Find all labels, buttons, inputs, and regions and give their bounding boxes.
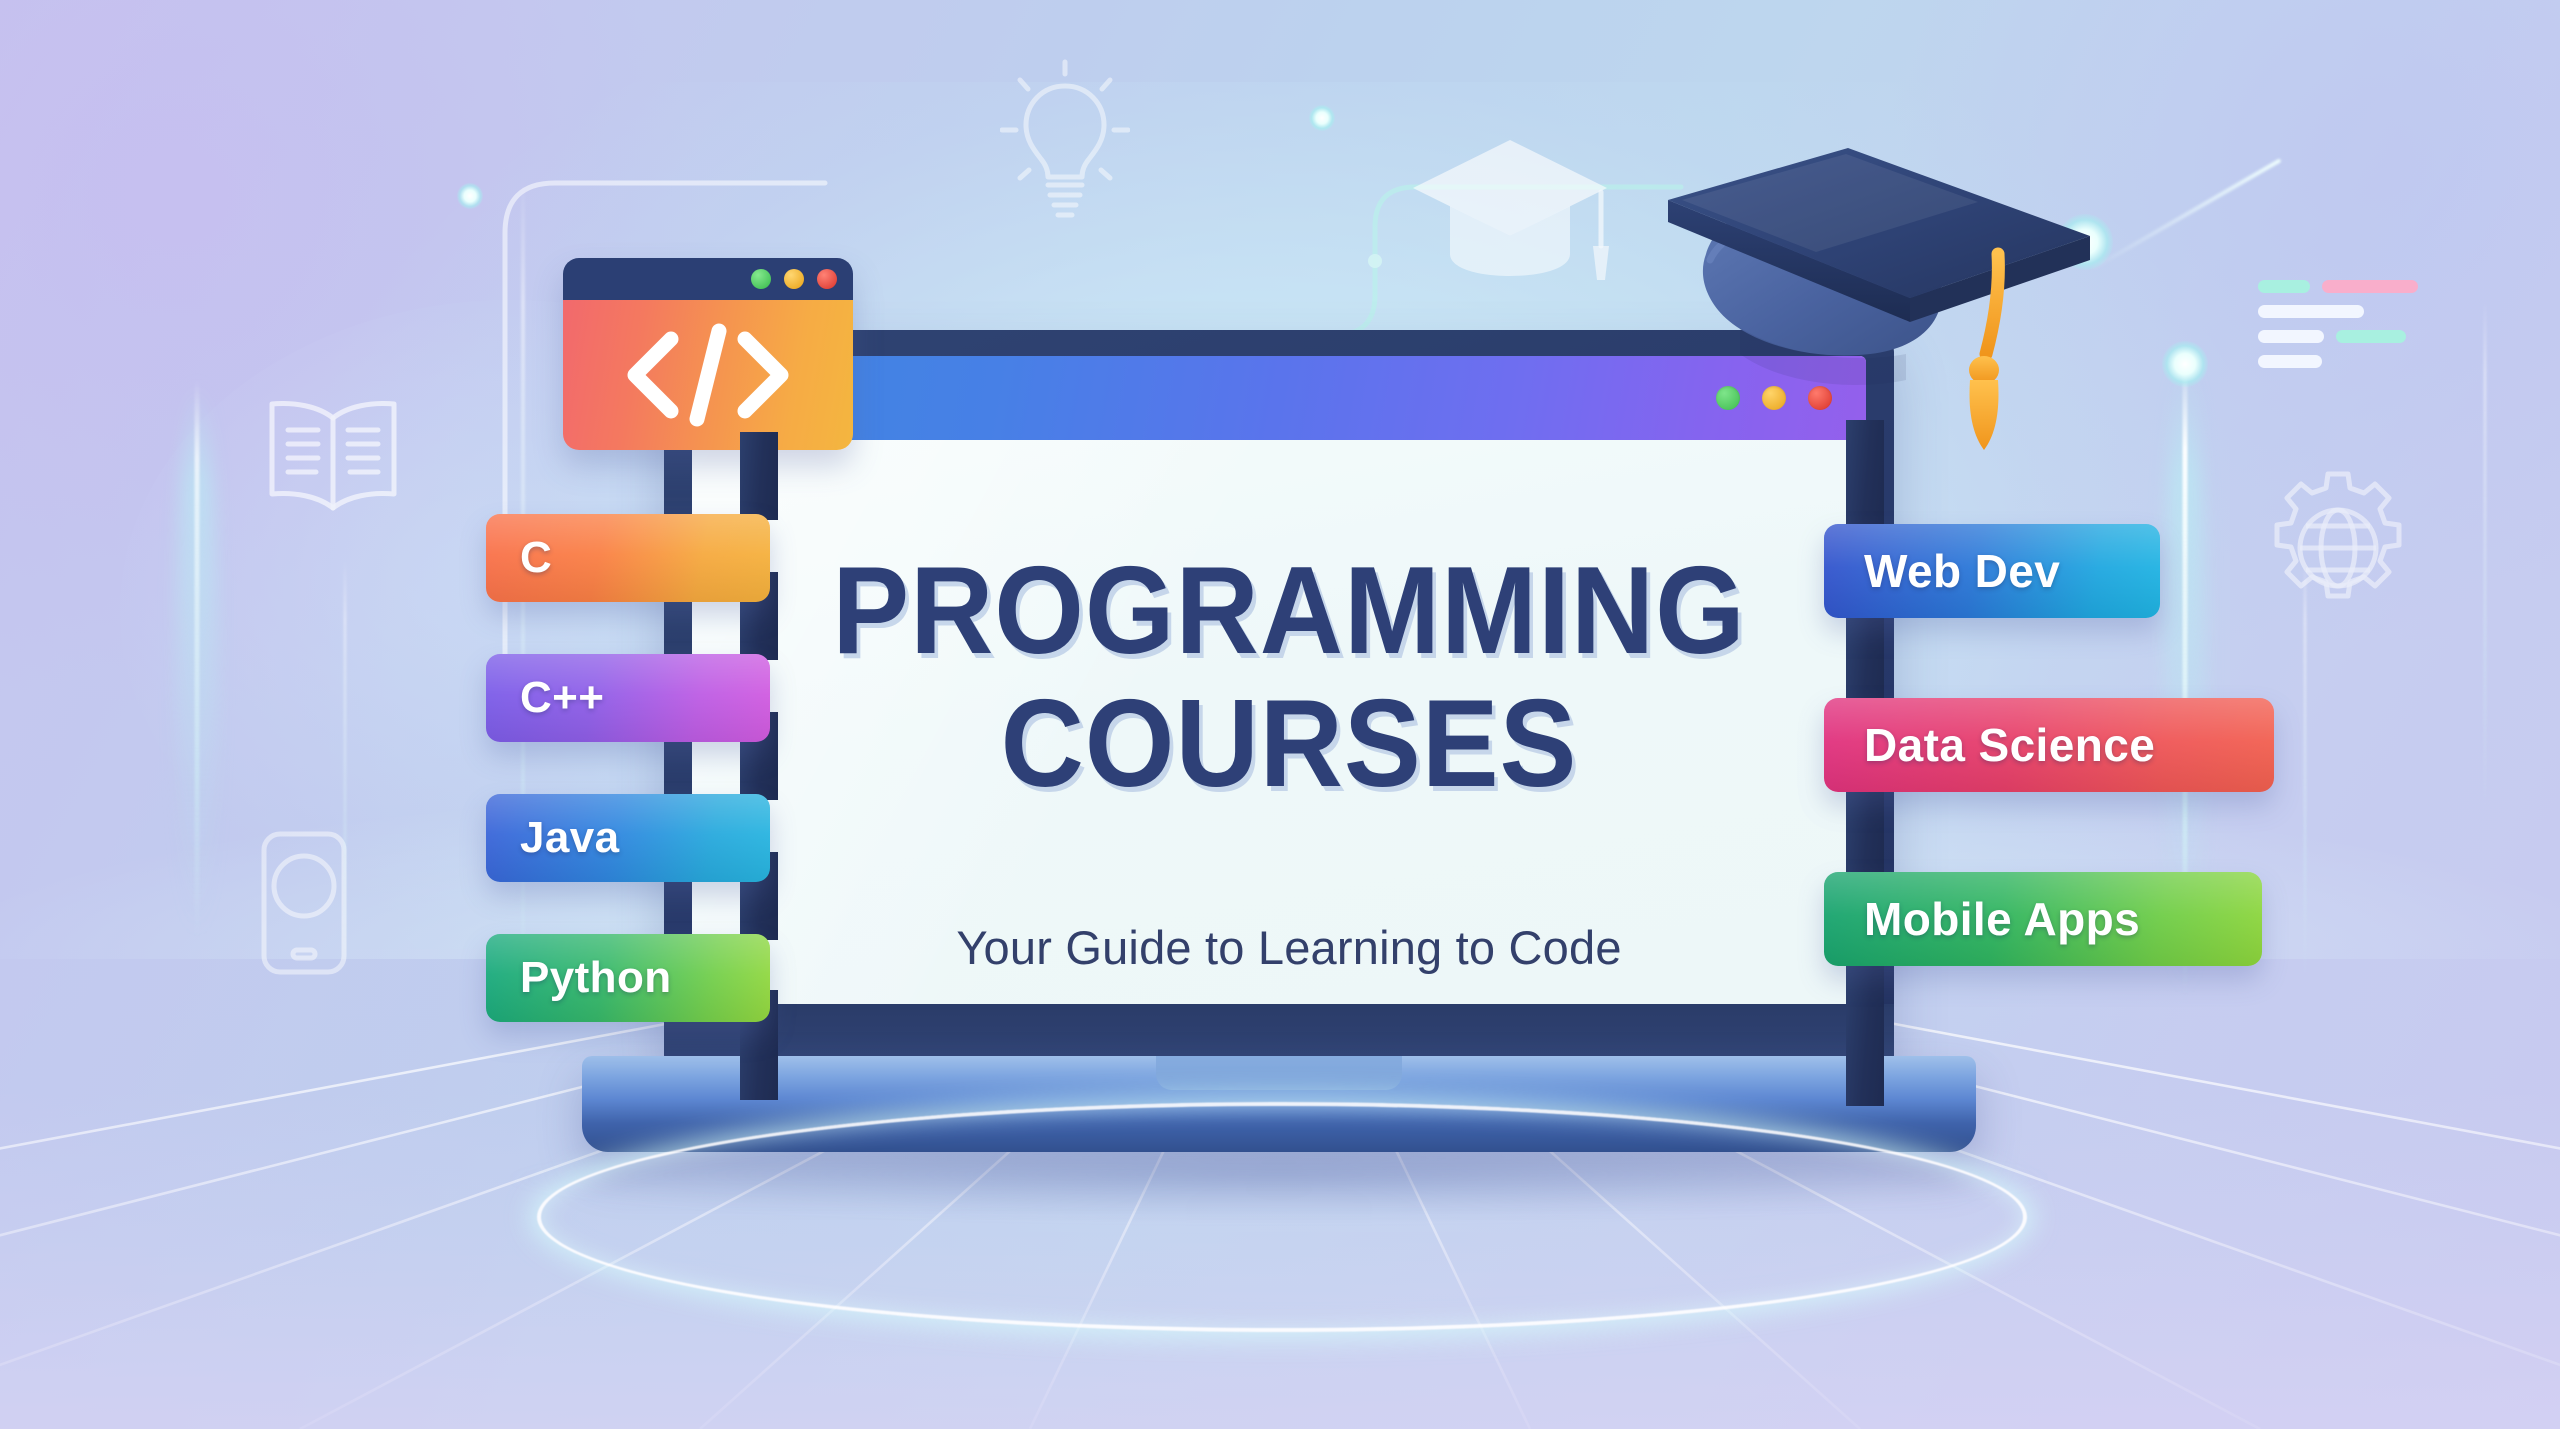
badge-mobile-apps[interactable]: Mobile Apps <box>1824 872 2262 966</box>
glow-ring <box>537 1102 2027 1332</box>
code-line-row <box>2258 305 2418 318</box>
badge-data-science[interactable]: Data Science <box>1824 698 2274 792</box>
code-line-chip <box>2322 280 2418 293</box>
badge-stem <box>1846 420 1884 530</box>
badge-python[interactable]: Python <box>486 934 770 1022</box>
badge-label: C++ <box>520 673 604 723</box>
code-line-chip <box>2258 330 2324 343</box>
badge-stem <box>1846 966 1884 1106</box>
badge-cpp[interactable]: C++ <box>486 654 770 742</box>
badge-stem <box>740 432 778 520</box>
page-subtitle: Your Guide to Learning to Code <box>784 920 1794 975</box>
code-card-window-controls <box>751 269 837 289</box>
code-window-card[interactable] <box>563 258 853 450</box>
badge-label: Web Dev <box>1864 544 2060 598</box>
badge-label: Java <box>520 813 619 863</box>
badge-label: Data Science <box>1864 718 2155 772</box>
code-line-row <box>2258 330 2418 343</box>
badge-stem <box>1846 792 1884 878</box>
badge-stem <box>1846 618 1884 704</box>
sparkle-left <box>457 183 483 209</box>
code-lines-decoration <box>2258 280 2418 380</box>
badge-c[interactable]: C <box>486 514 770 602</box>
laptop-trackpad-notch <box>1156 1056 1402 1090</box>
traffic-light-green[interactable] <box>751 269 771 289</box>
code-line-chip <box>2258 280 2310 293</box>
code-brackets-icon <box>563 300 853 450</box>
poster-canvas: PROGRAMMING COURSES Your Guide to Learni… <box>0 0 2560 1429</box>
code-line-chip <box>2336 330 2406 343</box>
code-line-chip <box>2258 355 2322 368</box>
code-line-chip <box>2258 305 2364 318</box>
badge-label: Mobile Apps <box>1864 892 2140 946</box>
badge-web-dev[interactable]: Web Dev <box>1824 524 2160 618</box>
sparkle-top-center <box>1309 105 1335 131</box>
code-card-titlebar <box>563 258 853 300</box>
code-line-row <box>2258 280 2418 293</box>
traffic-light-red[interactable] <box>817 269 837 289</box>
code-line-row <box>2258 355 2418 368</box>
badge-label: Python <box>520 953 672 1003</box>
badge-java[interactable]: Java <box>486 794 770 882</box>
traffic-light-yellow[interactable] <box>784 269 804 289</box>
badge-label: C <box>520 533 552 583</box>
